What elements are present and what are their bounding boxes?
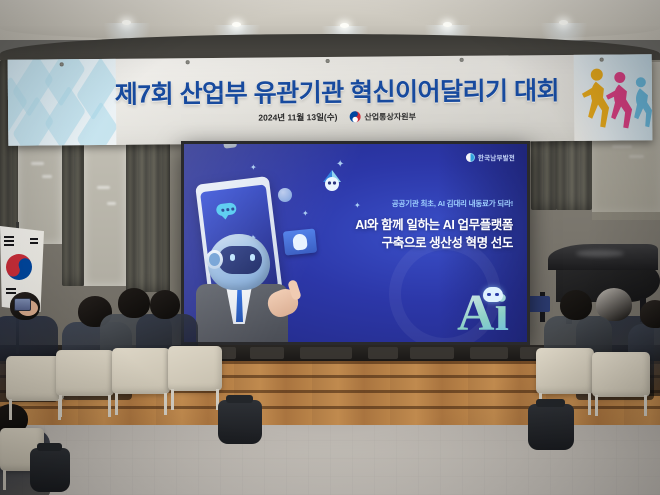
projection-screen: 한국남부발전 ✦ ✦	[181, 141, 530, 345]
chair-row-left-4[interactable]	[168, 346, 222, 408]
banner-grommet	[326, 59, 330, 63]
chair-backrest[interactable]	[536, 348, 594, 394]
bag-strap	[37, 443, 62, 451]
chair-leg	[9, 399, 12, 420]
chair-leg	[595, 395, 598, 416]
stage-cable	[368, 347, 398, 359]
trigram-bar	[6, 292, 16, 294]
banner-grommet	[460, 58, 464, 62]
smartphone	[14, 298, 31, 311]
stage-cable	[300, 347, 352, 359]
government-emblem: 산업통상자원부	[349, 110, 416, 123]
glass-gleam	[107, 202, 116, 205]
event-banner: 제7회 산업부 유관기관 혁신이어달리기 대회 2024년 11월 13일(수)…	[8, 54, 653, 146]
chair-row-left-2[interactable]	[56, 350, 114, 414]
chair-row-right-2[interactable]	[592, 352, 650, 414]
chair-row-left-3[interactable]	[112, 348, 170, 412]
trigram-bar	[30, 242, 38, 244]
chair-leg	[588, 393, 591, 415]
trigram-bar	[4, 236, 14, 238]
piano-highlight	[576, 250, 624, 257]
chair-leg	[115, 393, 118, 415]
bag-strap	[226, 395, 253, 403]
glass-gleam	[97, 186, 110, 189]
bag-bottom-left[interactable]	[30, 448, 70, 492]
taegeuk-icon	[349, 111, 361, 123]
trigram-bar	[6, 288, 16, 290]
banner-date: 2024년 11월 13일(수)	[258, 111, 337, 124]
slide-content: 한국남부발전 ✦ ✦	[184, 144, 527, 342]
person-head	[560, 290, 592, 320]
screen-glare	[184, 144, 527, 342]
chair-leg	[171, 389, 174, 410]
banner-grommet	[600, 58, 604, 62]
chair-leg	[644, 395, 647, 416]
trigram-bar	[4, 244, 14, 246]
backpack-right[interactable]	[528, 404, 574, 450]
glass-gleam	[42, 175, 52, 178]
stage-cable	[470, 347, 508, 359]
trigram-bar	[30, 238, 38, 240]
conference-hall-photo: 제7회 산업부 유관기관 혁신이어달리기 대회 2024년 11월 13일(수)…	[0, 0, 660, 495]
chair-backrest[interactable]	[592, 352, 650, 397]
bag-strap	[536, 399, 565, 407]
banner-grommet	[186, 60, 190, 64]
chair-backrest[interactable]	[112, 348, 170, 394]
spotlight-icon	[340, 23, 349, 28]
chair-leg	[59, 395, 62, 417]
person-head	[118, 288, 150, 318]
person-head	[150, 290, 180, 319]
piano-lid	[548, 244, 658, 270]
stage-cable	[410, 347, 454, 359]
chair-leg	[108, 395, 111, 417]
glass-gleam	[31, 162, 44, 165]
taegeuk-symbol	[2, 250, 36, 284]
banner-organization: 산업통상자원부	[364, 111, 416, 122]
chair-backrest[interactable]	[168, 346, 222, 391]
trigram-bar	[4, 240, 14, 242]
backpack-center[interactable]	[218, 400, 262, 444]
banner-grommet	[60, 62, 64, 66]
spotlight-icon	[559, 20, 568, 25]
person-head	[640, 300, 660, 328]
spotlight-icon	[443, 22, 452, 27]
banner-title: 제7회 산업부 유관기관 혁신이어달리기 대회	[114, 71, 560, 111]
chair-backrest[interactable]	[56, 350, 114, 396]
spotlight-icon	[232, 22, 241, 27]
stage-cable	[250, 347, 284, 359]
spotlight-icon	[122, 20, 131, 25]
chair-leg	[3, 470, 6, 490]
chair-leg	[164, 393, 167, 415]
